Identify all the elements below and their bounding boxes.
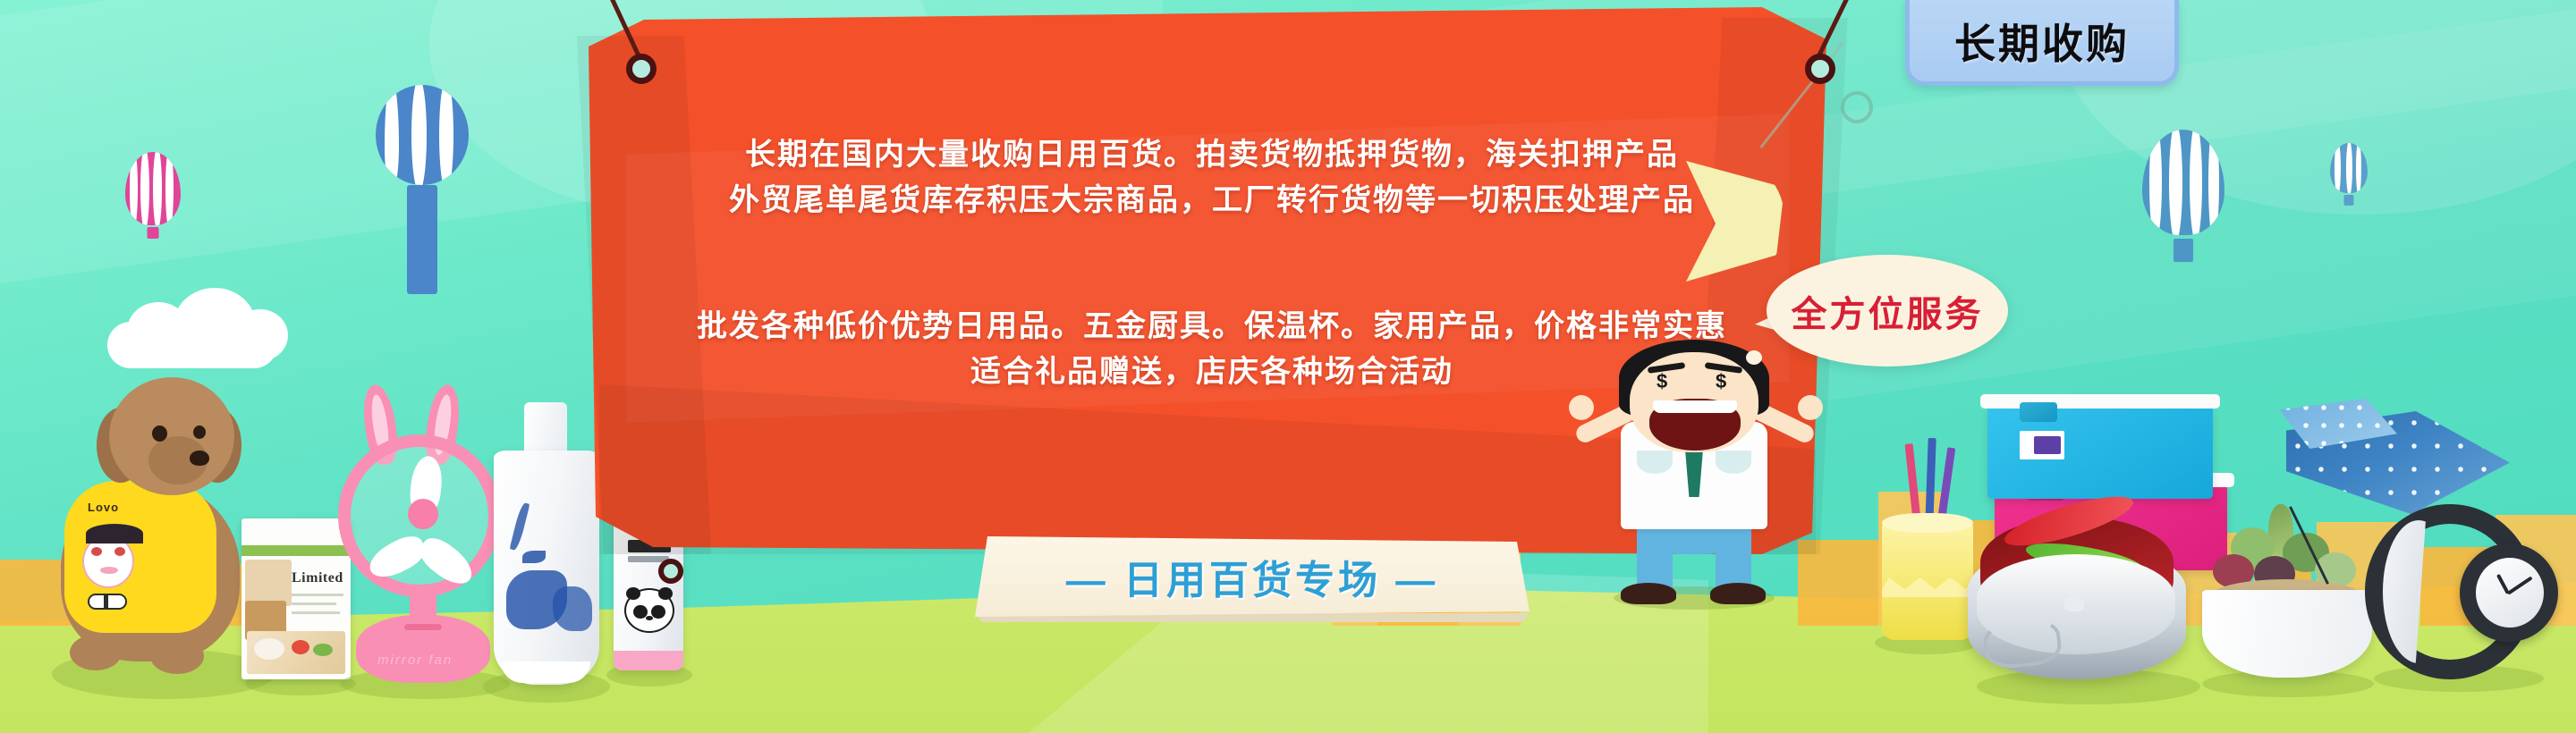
storage-box-blue (1987, 406, 2213, 499)
promo-banner-image: Lovo Limited (0, 0, 2576, 733)
banner-headline-line-2: 外贸尾单尾货库存积压大宗商品，工厂转行货物等一切积压处理产品 (572, 178, 1851, 223)
plaque-label: — 日用百货专场 — (1066, 548, 1438, 605)
speech-bubble-label: 全方位服务 (1792, 285, 1984, 337)
product-steel-pan (1959, 501, 2227, 715)
banner-headline-line-1: 长期在国内大量收购日用百货。拍卖货物抵押货物，海关扣押产品 (572, 132, 1851, 178)
hot-air-balloon-icon (376, 85, 469, 185)
product-wristwatch (2356, 499, 2571, 704)
hot-air-balloon-icon (2330, 143, 2368, 193)
speech-bubble: 全方位服务 (1767, 255, 2008, 366)
fan-brand-text: mirror fan (377, 653, 453, 668)
hot-air-balloon-icon (2142, 130, 2224, 235)
speech-bubble-dot (1746, 350, 1762, 365)
cartoon-businessman: $ $ (1574, 340, 1843, 608)
dollar-eye-icon: $ (1716, 370, 1726, 393)
banner-headline: 长期在国内大量收购日用百货。拍卖货物抵押货物，海关扣押产品 外贸尾单尾货库存积压… (572, 132, 1851, 223)
category-plaque: — 日用百货专场 — (975, 536, 1529, 617)
dog-shirt-text: Lovo (88, 501, 119, 514)
banner-grommet-right (1805, 54, 1835, 84)
long-term-purchase-badge[interactable]: 长期收购 (1905, 0, 2179, 86)
dollar-eye-icon: $ (1657, 370, 1667, 393)
badge-label: 长期收购 (1954, 12, 2130, 71)
banner-grommet-shadow (1841, 91, 1873, 123)
banner-grommet-bottom (658, 559, 683, 584)
hot-air-balloon-icon (125, 152, 181, 225)
banner-grommet-left (626, 54, 657, 84)
